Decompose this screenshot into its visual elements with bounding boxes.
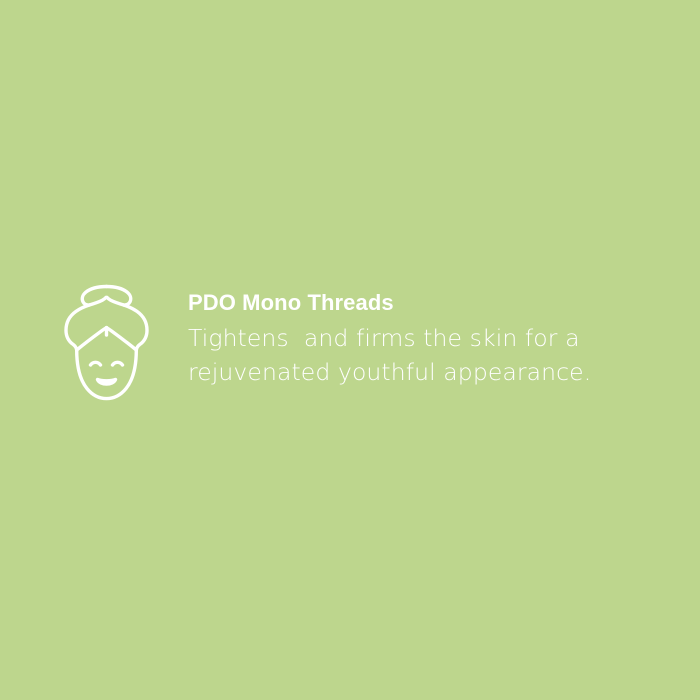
feature-card: PDO Mono Threads Tightens and firms the … [0,0,700,700]
face-towel-turban-spa-icon [60,282,156,406]
feature-block: PDO Mono Threads Tightens and firms the … [60,280,640,406]
feature-text-group: PDO Mono Threads Tightens and firms the … [188,280,640,389]
feature-title: PDO Mono Threads [188,290,640,316]
feature-description: Tightens and firms the skin for a rejuve… [188,321,640,389]
